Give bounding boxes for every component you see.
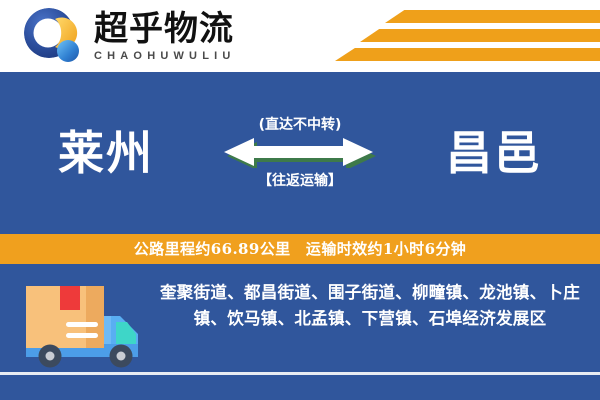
coverage-panel: 奎聚街道、都昌街道、围子街道、柳疃镇、龙池镇、卜庄镇、饮马镇、北孟镇、下营镇、石…: [0, 264, 600, 400]
banner-header: 超乎物流 CHAOHUWULIU: [0, 0, 600, 72]
road-line: [0, 372, 600, 375]
stripe-bottom: [335, 48, 600, 61]
origin-city: 莱州: [58, 125, 154, 181]
route-panel: 莱州 (直达不中转) 【往返运输】 昌邑: [0, 72, 600, 234]
brand-name-en: CHAOHUWULIU: [94, 49, 236, 63]
distance-duration-text: 公路里程约66.89公里 运输时效约1小时6分钟: [134, 234, 466, 264]
roundtrip-note: 【往返运输】: [185, 172, 415, 190]
circle-crescent-logo-icon: [22, 6, 84, 68]
brand-text-block: 超乎物流 CHAOHUWULIU: [94, 6, 236, 68]
route-middle-block: (直达不中转) 【往返运输】: [185, 116, 415, 190]
bidirectional-arrow-icon: [224, 138, 376, 168]
direct-service-note: (直达不中转): [185, 116, 415, 134]
brand-name-cn: 超乎物流: [94, 11, 236, 47]
delivery-truck-icon: [8, 276, 148, 376]
destination-city: 昌邑: [446, 125, 542, 181]
coverage-areas-text: 奎聚街道、都昌街道、围子街道、柳疃镇、龙池镇、卜庄镇、饮马镇、北孟镇、下营镇、石…: [150, 280, 590, 332]
distance-duration-band: 公路里程约66.89公里 运输时效约1小时6分钟: [0, 234, 600, 264]
brand-logo-block[interactable]: 超乎物流 CHAOHUWULIU: [22, 6, 236, 68]
logistics-route-banner: 超乎物流 CHAOHUWULIU 莱州 (直达不中转): [0, 0, 600, 400]
stripe-top: [385, 10, 600, 23]
slanted-stripes-decor-icon: [340, 0, 600, 72]
stripe-middle: [360, 29, 600, 42]
